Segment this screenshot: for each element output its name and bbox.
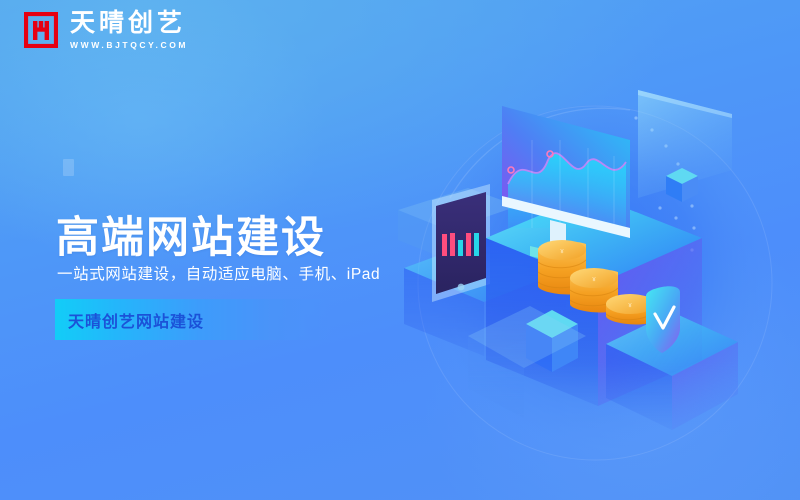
page-title: 高端网站建设 [56,217,326,260]
cta-button[interactable]: 天晴创艺网站建设 [55,299,333,340]
svg-text:￥: ￥ [591,277,596,283]
page-subtitle: 一站式网站建设，自动适应电脑、手机、iPad [57,266,380,285]
decorative-square-icon [63,159,74,176]
svg-text:￥: ￥ [559,249,564,255]
site-logo[interactable]: 天晴创艺 WWW.BJTQCY.COM [24,10,188,50]
logo-company-name: 天晴创艺 [70,10,188,36]
hero-banner: ￥ ￥ [0,0,800,500]
logo-website-url: WWW.BJTQCY.COM [70,40,188,50]
svg-text:￥: ￥ [627,303,632,309]
tablet-device-icon [432,184,490,302]
logo-text-block: 天晴创艺 WWW.BJTQCY.COM [70,10,188,50]
brand-square-icon [24,12,58,48]
cta-button-label: 天晴创艺网站建设 [68,308,204,332]
isometric-illustration: ￥ ￥ [390,88,800,468]
